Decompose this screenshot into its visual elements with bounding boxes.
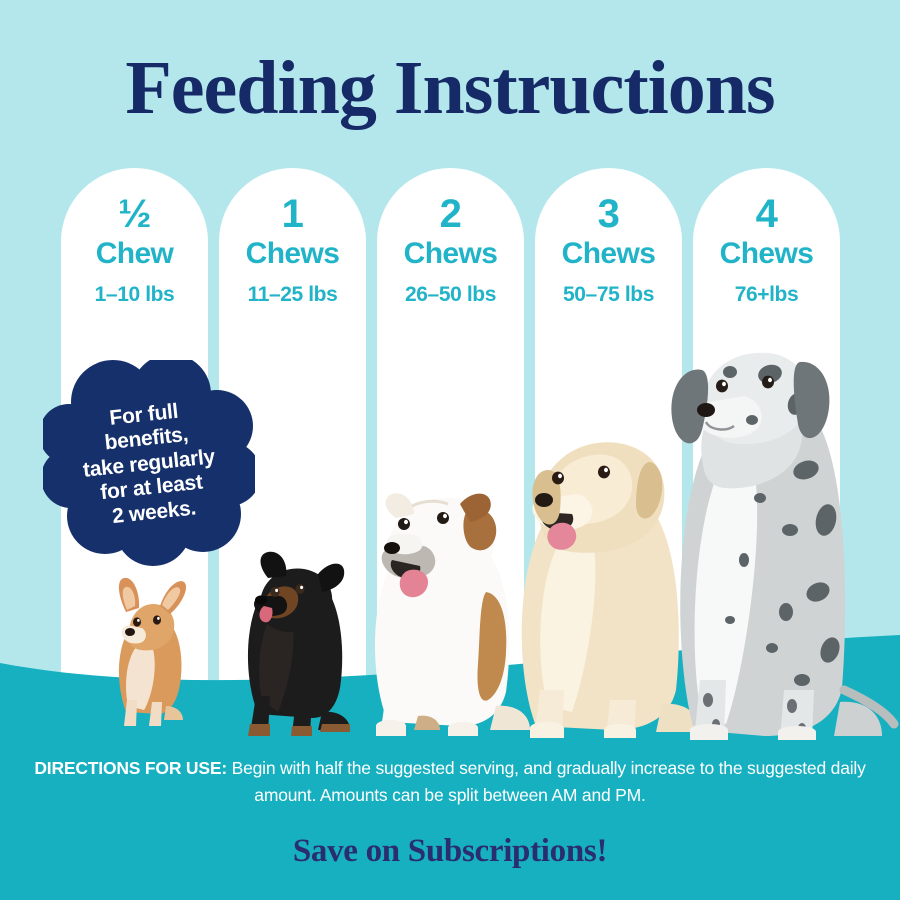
dosage-card-2-chews[interactable]: 2 Chews 26–50 lbs	[377, 168, 524, 728]
dosage-card-4-chews[interactable]: 4 Chews 76+lbs	[693, 168, 840, 728]
badge-line-4-prefix: for	[99, 478, 134, 504]
dosage-weight: 50–75 lbs	[535, 284, 682, 305]
badge-take-regularly: For full benefits, take regularly for at…	[43, 360, 255, 568]
feeding-instructions-poster: Feeding Instructions ½ Chew 1–10 lbs 1 C…	[0, 0, 900, 900]
dosage-unit: Chew	[61, 238, 208, 270]
dosage-card-3-chews[interactable]: 3 Chews 50–75 lbs	[535, 168, 682, 728]
dosage-weight: 1–10 lbs	[61, 284, 208, 305]
directions-for-use: DIRECTIONS FOR USE: Begin with half the …	[0, 755, 900, 809]
dosage-count: 3	[535, 194, 682, 234]
dosage-count: 1	[219, 194, 366, 234]
dosage-unit: Chews	[377, 238, 524, 270]
dosage-unit: Chews	[693, 238, 840, 270]
dosage-unit: Chews	[219, 238, 366, 270]
dosage-weight: 76+lbs	[693, 284, 840, 305]
directions-label: DIRECTIONS FOR USE:	[34, 758, 227, 778]
dosage-count: 2	[377, 194, 524, 234]
dosage-count: 4	[693, 194, 840, 234]
dosage-weight: 26–50 lbs	[377, 284, 524, 305]
page-title: Feeding Instructions	[0, 50, 900, 126]
directions-body: Begin with half the suggested serving, a…	[227, 758, 866, 805]
dosage-weight: 11–25 lbs	[219, 284, 366, 305]
dosage-unit: Chews	[535, 238, 682, 270]
save-on-subscriptions-cta[interactable]: Save on Subscriptions!	[0, 833, 900, 870]
badge-text: For full benefits, take regularly for at…	[33, 349, 266, 578]
dosage-count: ½	[61, 194, 208, 234]
